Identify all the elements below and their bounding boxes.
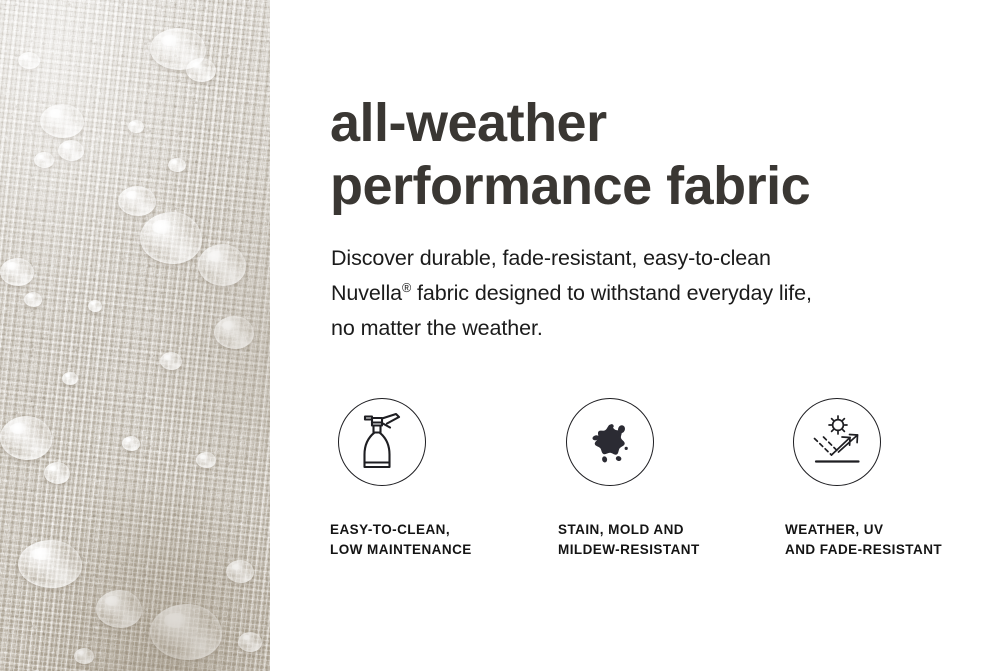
description-line-1: Discover durable, fade-resistant, easy-t… [331, 246, 771, 270]
sun-uv-reflection-icon [793, 398, 881, 486]
page-title: all-weather performance fabric [330, 92, 810, 218]
spray-bottle-icon [338, 398, 426, 486]
feature-stain-resistant: STAIN, MOLD AND MILDEW-RESISTANT [558, 398, 773, 560]
feature-label: EASY-TO-CLEAN, LOW MAINTENANCE [330, 486, 545, 560]
fabric-water-droplets-photo [0, 0, 270, 671]
feature-label: STAIN, MOLD AND MILDEW-RESISTANT [558, 486, 773, 560]
feature-list: EASY-TO-CLEAN, LOW MAINTENANCE STAIN, M [330, 398, 990, 568]
ink-splat-icon [566, 398, 654, 486]
promo-banner: all-weather performance fabric Discover … [0, 0, 1005, 671]
feature-easy-to-clean: EASY-TO-CLEAN, LOW MAINTENANCE [330, 398, 545, 560]
feature-weather-uv-resistant: WEATHER, UV AND FADE-RESISTANT [785, 398, 1000, 560]
promo-content: all-weather performance fabric Discover … [330, 0, 990, 671]
promo-description: Discover durable, fade-resistant, easy-t… [331, 241, 971, 345]
description-line-3: no matter the weather. [331, 316, 543, 340]
feature-label: WEATHER, UV AND FADE-RESISTANT [785, 486, 1000, 560]
description-line-2: fabric designed to withstand everyday li… [411, 281, 812, 305]
fabric-lighting-overlay [0, 0, 270, 671]
brand-name: Nuvella [331, 281, 402, 305]
registered-mark: ® [402, 281, 411, 295]
